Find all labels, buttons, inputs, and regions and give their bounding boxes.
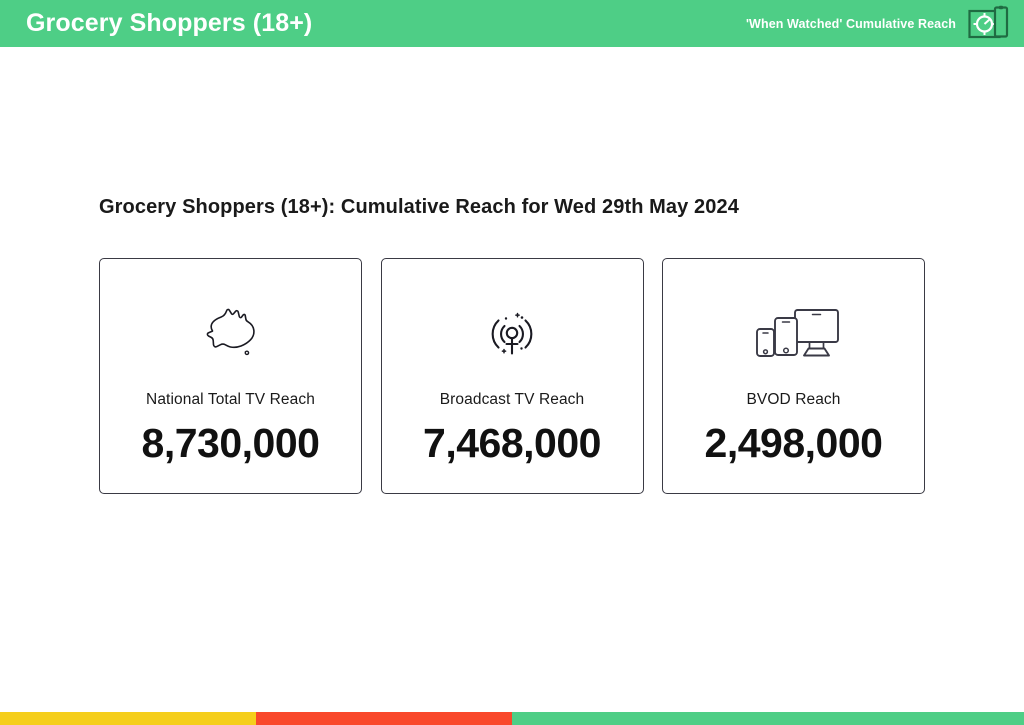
header-right-group: 'When Watched' Cumulative Reach xyxy=(746,5,1010,43)
header-subtitle: 'When Watched' Cumulative Reach xyxy=(746,17,956,31)
metric-card-bvod-reach[interactable]: BVOD Reach 2,498,000 xyxy=(662,258,925,494)
australia-map-icon xyxy=(198,304,264,364)
card-label: National Total TV Reach xyxy=(146,391,315,409)
card-label: Broadcast TV Reach xyxy=(440,391,585,409)
header-title: Grocery Shoppers (18+) xyxy=(26,9,312,38)
broadcast-signal-icon xyxy=(482,304,542,364)
metric-card-national-total-tv-reach[interactable]: National Total TV Reach 8,730,000 xyxy=(99,258,362,494)
card-value: 7,468,000 xyxy=(423,423,601,464)
card-value: 8,730,000 xyxy=(142,423,320,464)
footer-segment-red xyxy=(256,712,512,725)
card-icon-slot xyxy=(198,299,264,369)
footer-segment-green xyxy=(512,712,1024,725)
card-icon-slot xyxy=(748,299,840,369)
page-title: Grocery Shoppers (18+): Cumulative Reach… xyxy=(99,196,739,219)
target-screen-mobile-logo-icon xyxy=(968,5,1010,43)
card-value: 2,498,000 xyxy=(705,423,883,464)
metric-card-group: National Total TV Reach 8,730,000 xyxy=(99,258,925,494)
app-header: Grocery Shoppers (18+) 'When Watched' Cu… xyxy=(0,0,1024,47)
metric-card-broadcast-tv-reach[interactable]: Broadcast TV Reach 7,468,000 xyxy=(381,258,644,494)
card-label: BVOD Reach xyxy=(746,391,840,409)
brand-logo[interactable] xyxy=(968,5,1010,43)
footer-accent-bar xyxy=(0,712,1024,725)
footer-segment-yellow xyxy=(0,712,256,725)
multi-device-screens-icon xyxy=(748,305,840,363)
card-icon-slot xyxy=(482,299,542,369)
